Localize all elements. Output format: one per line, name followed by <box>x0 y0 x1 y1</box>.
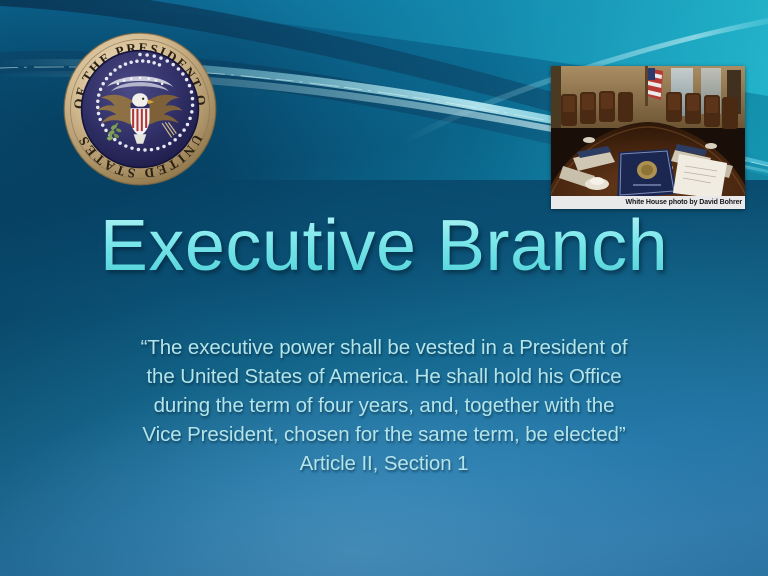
slide-body-text: “The executive power shall be vested in … <box>44 333 724 478</box>
quote-line-1: “The executive power shall be vested in … <box>44 333 724 362</box>
foreground-folder <box>617 149 677 199</box>
quote-citation: Article II, Section 1 <box>44 449 724 478</box>
slide-title: Executive Branch <box>0 209 768 285</box>
presidential-seal-icon: SEAL OF THE PRESIDENT OF THE UNITED STAT… <box>61 30 219 188</box>
quote-line-4: Vice President, chosen for the same term… <box>44 420 724 449</box>
cabinet-room-photo: White House photo by David Bohrer <box>551 66 745 209</box>
cabinet-room-image <box>551 66 745 209</box>
presidential-seal: SEAL OF THE PRESIDENT OF THE UNITED STAT… <box>61 30 219 188</box>
quote-line-2: the United States of America. He shall h… <box>44 362 724 391</box>
presentation-slide: SEAL OF THE PRESIDENT OF THE UNITED STAT… <box>0 0 768 576</box>
quote-line-3: during the term of four years, and, toge… <box>44 391 724 420</box>
